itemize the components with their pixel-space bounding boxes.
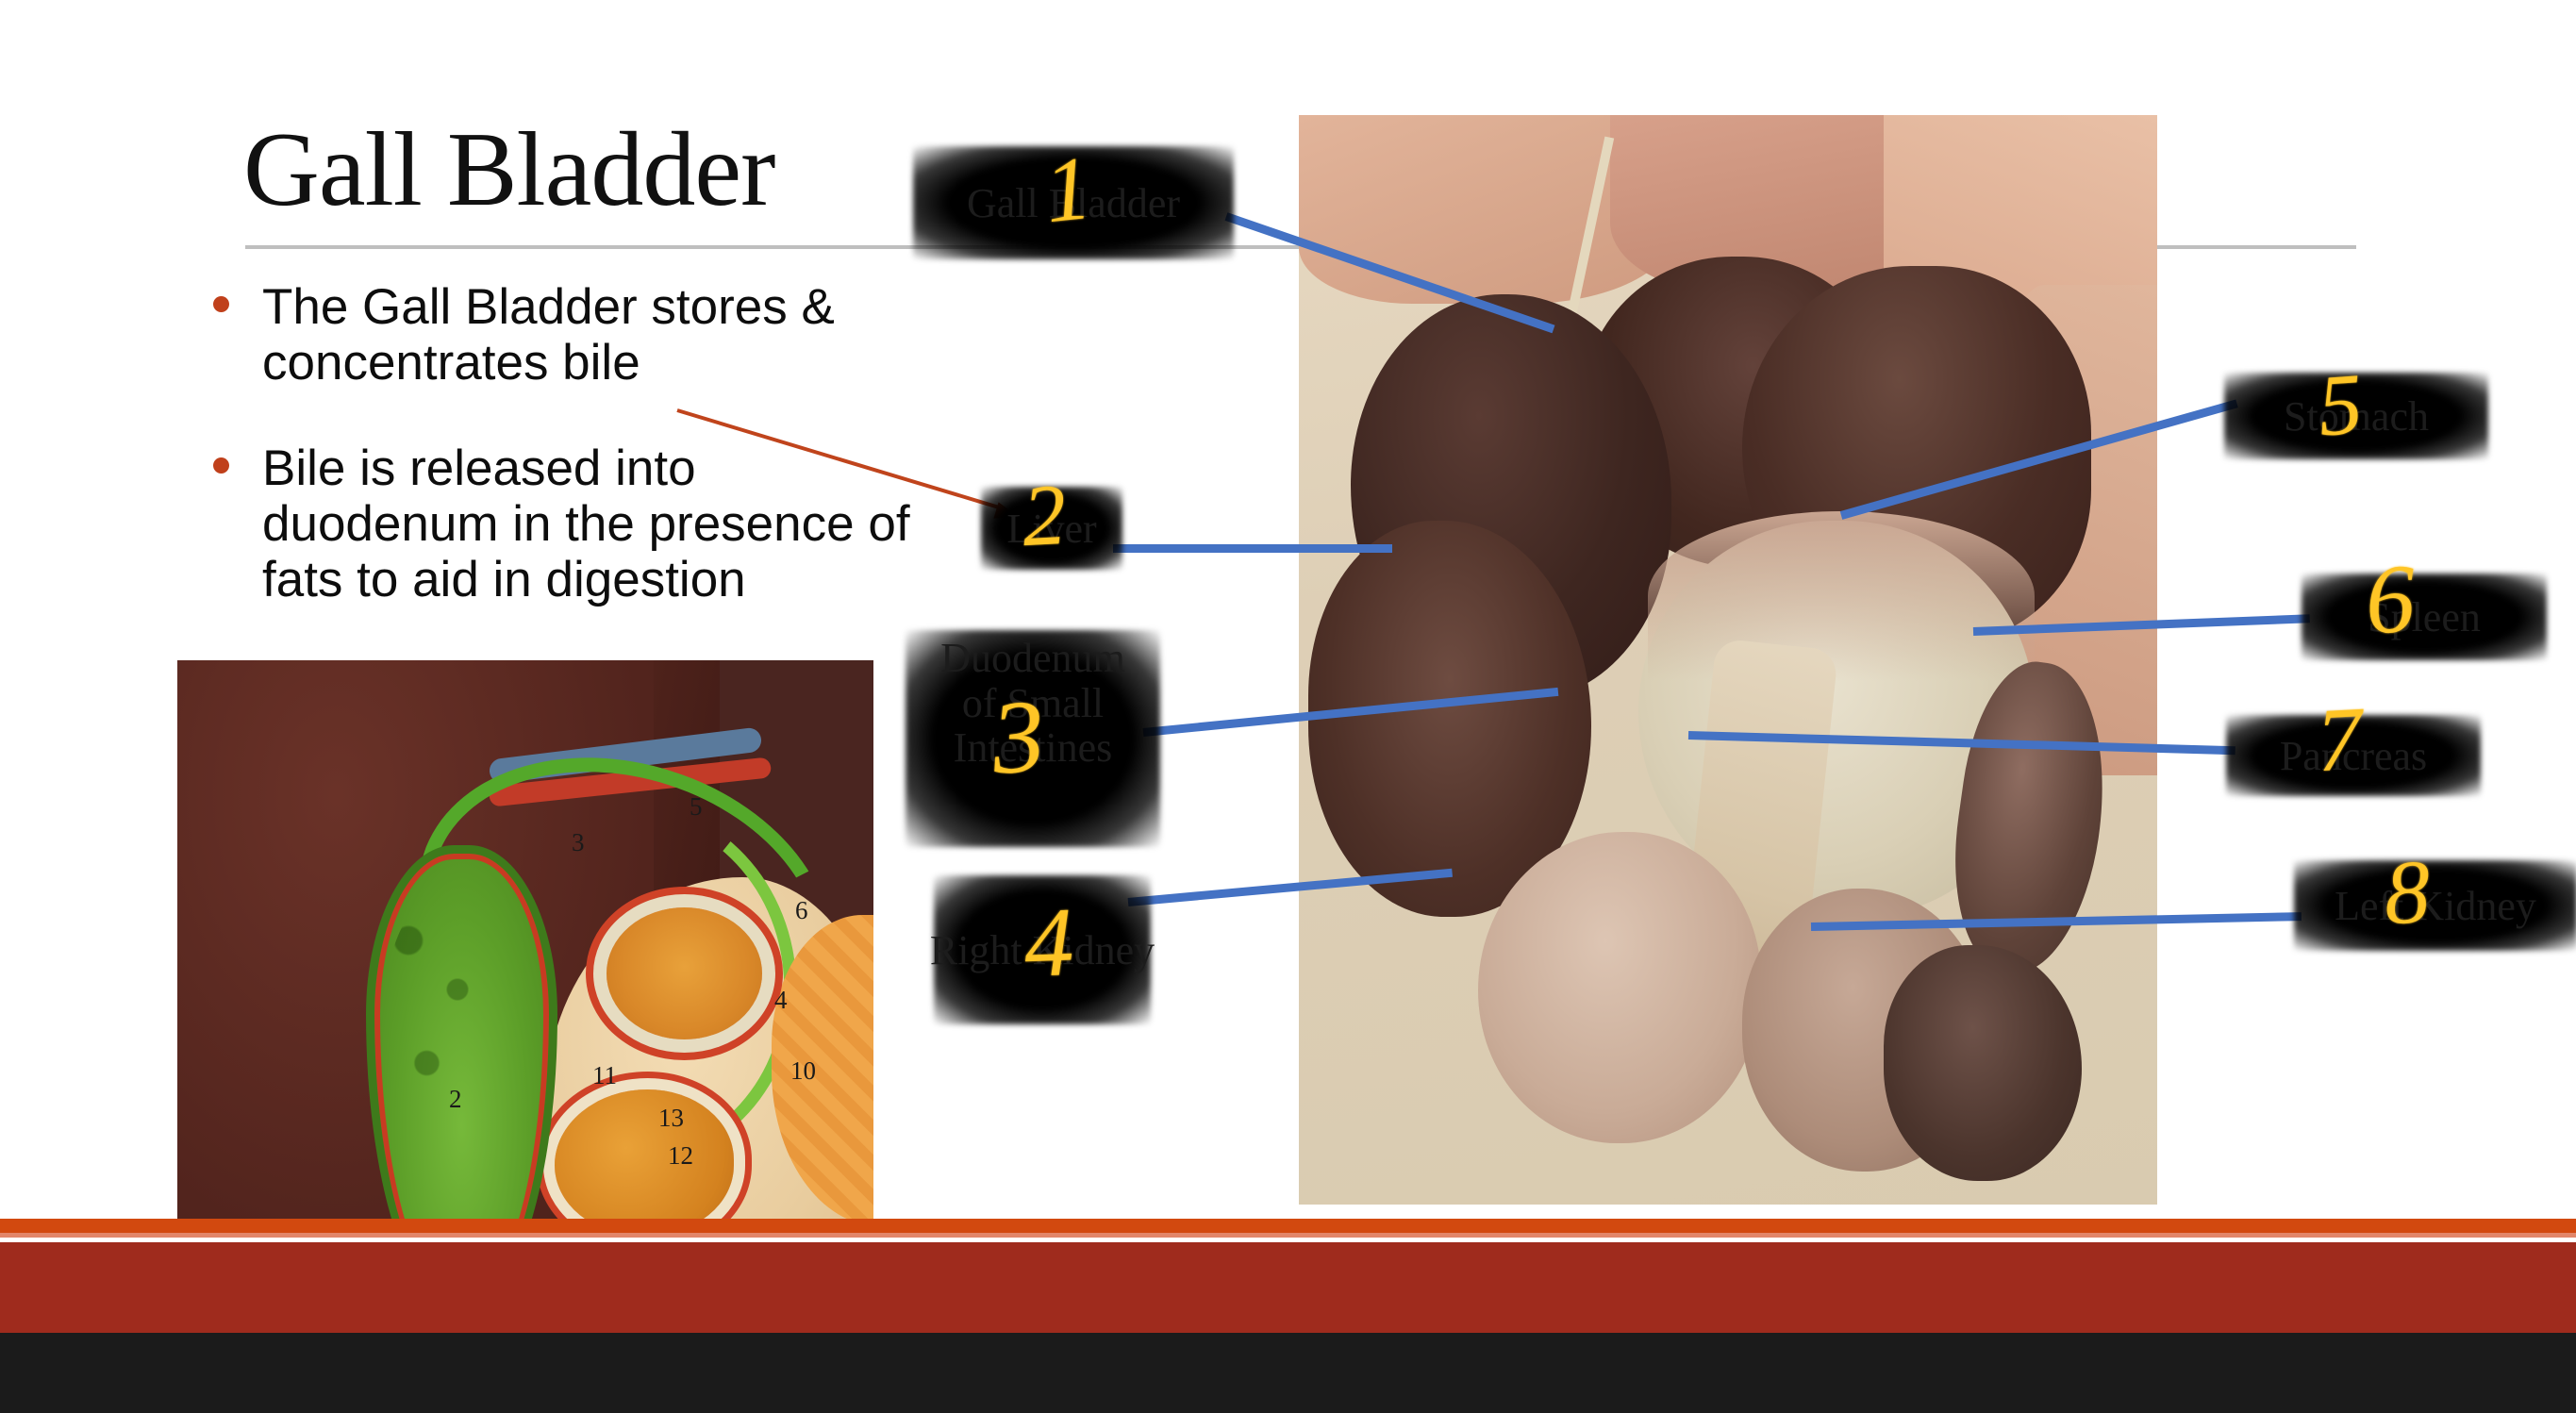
bullet-text: Bile is released into duodenum in the pr… — [262, 441, 910, 608]
footer-accent-bar-orange — [0, 1219, 2576, 1233]
bullet-dot-icon — [213, 296, 229, 312]
model-duodenum-lumen-upper — [607, 907, 762, 1039]
handwritten-number: 6 — [2364, 550, 2417, 650]
page-title: Gall Bladder — [243, 117, 774, 223]
label-text: Spleen — [2302, 574, 2547, 660]
label-duodenum: Duodenum of Small Intestines 3 — [906, 630, 1160, 847]
model-number-13: 13 — [658, 1104, 684, 1133]
bullet-text: The Gall Bladder stores & concentrates b… — [262, 279, 835, 391]
model-number-6: 6 — [795, 896, 808, 925]
handwritten-number: 5 — [2316, 360, 2365, 450]
dissection-photo — [1299, 115, 2157, 1205]
bullet-item: The Gall Bladder stores & concentrates b… — [196, 279, 913, 391]
label-left-kidney: Left Kidney 8 — [2294, 860, 2576, 951]
handwritten-number: 3 — [989, 683, 1048, 790]
label-liver: Liver 2 — [981, 487, 1122, 570]
connector-liver — [1113, 544, 1392, 553]
model-number-10: 10 — [790, 1056, 816, 1086]
handwritten-number: 4 — [1022, 893, 1075, 993]
slide-canvas: Gall Bladder The Gall Bladder stores & c… — [0, 0, 2576, 1333]
handwritten-number: 1 — [1040, 142, 1095, 237]
label-text: Left Kidney — [2294, 860, 2576, 951]
model-number-5: 5 — [690, 792, 703, 822]
model-number-4: 4 — [774, 986, 788, 1015]
dissection-stomach-greater-curvature — [1648, 511, 2035, 681]
footer-band-red — [0, 1242, 2576, 1333]
label-text-line1: Duodenum — [940, 636, 1125, 681]
presentation-stage-background — [0, 1333, 2576, 1413]
handwritten-number: 7 — [2315, 693, 2365, 786]
bullet-item: Bile is released into duodenum in the pr… — [196, 441, 913, 608]
handwritten-number: 8 — [2383, 846, 2431, 939]
model-number-11: 11 — [592, 1061, 617, 1090]
label-pancreas: Pancreas 7 — [2226, 715, 2481, 796]
label-gall-bladder: Gall Bladder 1 — [913, 146, 1234, 259]
model-number-12: 12 — [668, 1141, 693, 1171]
dissection-small-intestine — [1478, 832, 1761, 1143]
model-gall-bladder-mucosa — [384, 891, 507, 1137]
label-right-kidney: Right Kidney 4 — [934, 875, 1151, 1024]
bullet-dot-icon — [213, 457, 229, 474]
label-spleen: Spleen 6 — [2302, 574, 2547, 660]
model-number-2: 2 — [449, 1085, 462, 1114]
model-duodenum-lumen-lower — [555, 1089, 734, 1236]
model-number-3: 3 — [572, 828, 585, 857]
bullet-list: The Gall Bladder stores & concentrates b… — [196, 279, 913, 657]
handwritten-number: 2 — [1021, 471, 1069, 559]
label-stomach: Stomach 5 — [2224, 373, 2488, 459]
